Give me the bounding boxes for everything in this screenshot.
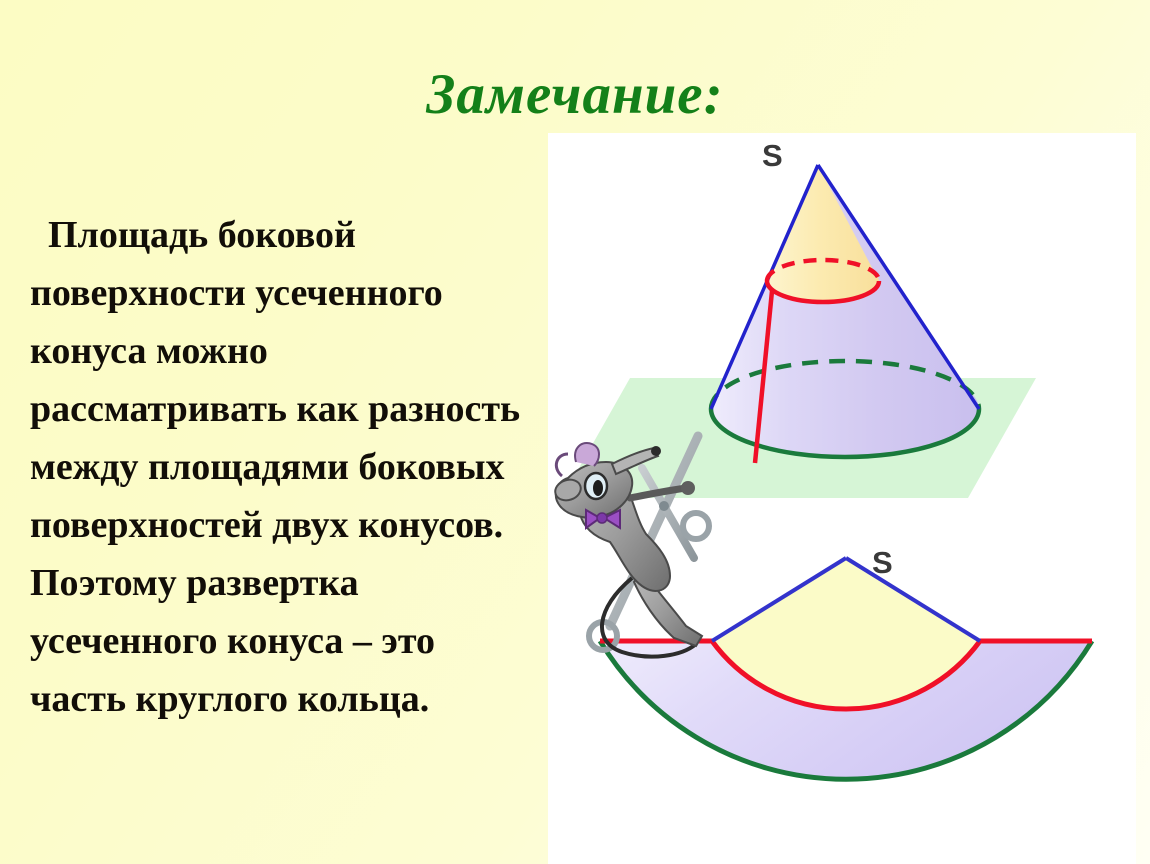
body-paragraph: Площадь боковой поверхности усеченного к… <box>30 206 530 728</box>
apex-label-net: S <box>872 545 893 581</box>
mouse-hand <box>681 481 695 495</box>
apex-label-cone: S <box>762 138 783 174</box>
mouse-nose <box>651 446 661 456</box>
slide-canvas: Замечание: Площадь боковой поверхности у… <box>0 0 1150 864</box>
mouse-with-scissors-illustration <box>546 430 766 665</box>
mouse-hair-curl <box>556 454 568 476</box>
page-title: Замечание: <box>0 62 1150 127</box>
mouse-pupil <box>593 480 603 496</box>
mouse-hair-tuft <box>575 443 599 466</box>
